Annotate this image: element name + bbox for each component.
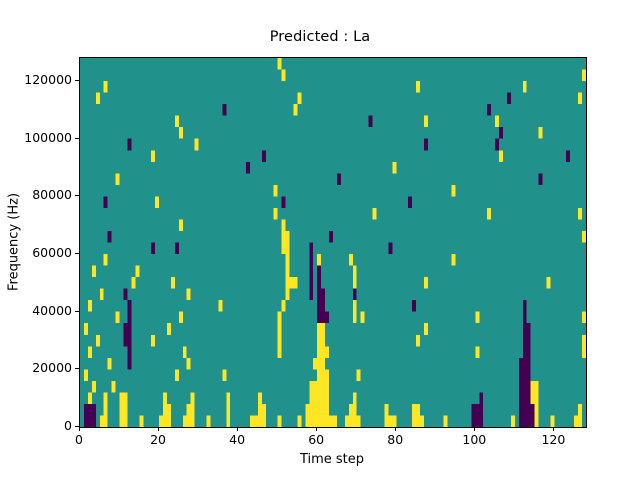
x-tick-label: 60 xyxy=(286,432,346,447)
heatmap-canvas xyxy=(80,58,586,427)
y-tick-mark xyxy=(75,80,79,81)
y-tick-mark xyxy=(75,138,79,139)
x-tick-label: 20 xyxy=(128,432,188,447)
y-tick-mark xyxy=(75,195,79,196)
y-tick-mark xyxy=(75,253,79,254)
x-tick-label: 40 xyxy=(207,432,267,447)
x-tick-label: 120 xyxy=(523,432,583,447)
x-tick-mark xyxy=(474,427,475,431)
heatmap-axes xyxy=(79,57,587,428)
x-axis-label: Time step xyxy=(79,452,585,467)
x-tick-label: 100 xyxy=(444,432,504,447)
y-tick-label: 120000 xyxy=(2,72,72,87)
chart-title: Predicted : La xyxy=(0,29,640,45)
y-tick-label: 0 xyxy=(2,418,72,433)
matplotlib-figure: Predicted : La Time step Frequency (Hz) … xyxy=(0,0,640,480)
y-axis-label: Frequency (Hz) xyxy=(7,192,22,290)
x-tick-mark xyxy=(395,427,396,431)
x-tick-label: 0 xyxy=(49,432,109,447)
y-tick-mark xyxy=(75,368,79,369)
y-tick-mark xyxy=(75,426,79,427)
y-tick-label: 80000 xyxy=(2,187,72,202)
y-tick-mark xyxy=(75,311,79,312)
x-tick-mark xyxy=(316,427,317,431)
y-tick-label: 100000 xyxy=(2,130,72,145)
x-tick-mark xyxy=(79,427,80,431)
y-tick-label: 60000 xyxy=(2,245,72,260)
x-tick-label: 80 xyxy=(365,432,425,447)
x-tick-mark xyxy=(237,427,238,431)
y-tick-label: 40000 xyxy=(2,303,72,318)
x-tick-mark xyxy=(553,427,554,431)
x-tick-mark xyxy=(158,427,159,431)
y-tick-label: 20000 xyxy=(2,360,72,375)
heatmap-image xyxy=(80,58,586,427)
